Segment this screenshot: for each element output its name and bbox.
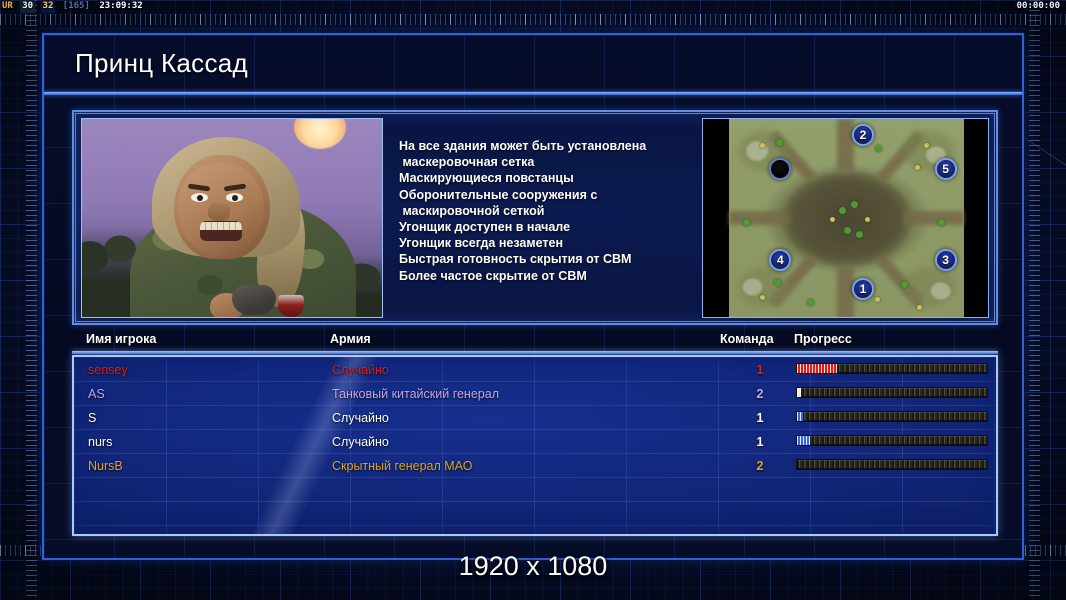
table-row[interactable]: ASТанковый китайский генерал2 bbox=[74, 384, 996, 408]
portrait-nose bbox=[208, 203, 230, 221]
portrait-pupil-right bbox=[232, 195, 238, 201]
progress-bar-fill bbox=[797, 388, 801, 397]
description-line: Более частое скрытие от СВМ bbox=[399, 268, 699, 284]
cell-player-name: AS bbox=[88, 387, 105, 401]
cell-army: Случайно bbox=[332, 363, 389, 377]
map-prop-tree bbox=[875, 145, 882, 152]
table-row[interactable]: nursСлучайно1 bbox=[74, 432, 996, 456]
progress-bar bbox=[796, 363, 988, 374]
map-prop-tree bbox=[901, 281, 908, 288]
map-road-e bbox=[903, 211, 964, 225]
description-line: Оборонительные сооружения с bbox=[399, 187, 699, 203]
header-progress: Прогресс bbox=[794, 332, 852, 346]
map-slot-3[interactable]: 3 bbox=[935, 249, 957, 271]
cell-team: 1 bbox=[749, 363, 771, 377]
progress-bar bbox=[796, 435, 988, 446]
cell-team: 2 bbox=[749, 459, 771, 473]
cell-player-name: nurs bbox=[88, 435, 112, 449]
map-prop-tree bbox=[776, 139, 783, 146]
status-value-2: 32 bbox=[41, 0, 56, 13]
status-clock: 23:09:32 bbox=[97, 0, 144, 13]
cell-army: Случайно bbox=[332, 435, 389, 449]
status-value-1: 30 bbox=[20, 0, 35, 13]
map-prop-tree bbox=[774, 279, 781, 286]
portrait-teeth bbox=[200, 222, 242, 230]
map-terrain-blob-4 bbox=[903, 267, 955, 307]
description-line: Быстрая готовность скрытия от СВМ bbox=[399, 251, 699, 267]
progress-bar bbox=[796, 459, 988, 470]
player-list-divider bbox=[72, 351, 998, 354]
progress-bar-fill bbox=[797, 412, 803, 421]
portrait-eye-left bbox=[191, 193, 208, 202]
map-slot-4[interactable]: 4 bbox=[769, 249, 791, 271]
general-info-panel: На все здания может быть установлена мас… bbox=[72, 110, 998, 325]
map-prop-tree bbox=[807, 299, 814, 306]
description-line: маскировочной сеткой bbox=[399, 203, 699, 219]
portrait-pupil-left bbox=[197, 195, 203, 201]
description-line: На все здания может быть установлена bbox=[399, 138, 699, 154]
map-slot-empty[interactable] bbox=[769, 158, 791, 180]
map-center-basin bbox=[783, 171, 911, 267]
portrait-cup bbox=[278, 295, 304, 317]
status-label: UR bbox=[0, 0, 15, 13]
map-slot-2[interactable]: 2 bbox=[852, 124, 874, 146]
description-line: маскеровочная сетка bbox=[399, 154, 699, 170]
screen-root: UR 30 32 [165] 23:09:32 00:00:00 Принц К… bbox=[0, 0, 1066, 600]
cell-team: 1 bbox=[749, 411, 771, 425]
progress-bar-fill bbox=[797, 436, 810, 445]
resolution-overlay: 1920 x 1080 bbox=[0, 551, 1066, 582]
portrait-eyebrow-left bbox=[188, 183, 210, 191]
header-army: Армия bbox=[330, 332, 371, 346]
map-road-w bbox=[729, 211, 790, 225]
page-title: Принц Кассад bbox=[75, 48, 248, 79]
cell-team: 1 bbox=[749, 435, 771, 449]
cell-team: 2 bbox=[749, 387, 771, 401]
map-preview[interactable]: 25431 bbox=[702, 118, 989, 318]
map-road-n bbox=[837, 119, 853, 171]
map-slot-5[interactable]: 5 bbox=[935, 158, 957, 180]
status-bracket: [165] bbox=[61, 0, 92, 13]
portrait-face bbox=[178, 163, 264, 255]
cell-progress bbox=[796, 363, 988, 374]
cell-player-name: sensey bbox=[88, 363, 128, 377]
portrait-teapot bbox=[232, 285, 276, 315]
main-window: Принц Кассад bbox=[42, 33, 1024, 560]
player-list-panel: senseyСлучайно1ASТанковый китайский гене… bbox=[72, 355, 998, 536]
cell-progress bbox=[796, 411, 988, 422]
table-row[interactable]: SСлучайно1 bbox=[74, 408, 996, 432]
map-terrain-blob-3 bbox=[738, 267, 790, 307]
title-divider bbox=[44, 92, 1022, 95]
portrait-mouth bbox=[200, 221, 242, 241]
cell-player-name: S bbox=[88, 411, 96, 425]
header-team: Команда bbox=[720, 332, 774, 346]
map-prop-gold bbox=[915, 165, 920, 170]
table-row[interactable]: NursBСкрытный генерал МАО2 bbox=[74, 456, 996, 480]
portrait-eyebrow-right bbox=[224, 183, 246, 191]
map-road-s bbox=[837, 267, 853, 318]
map-prop-gold bbox=[875, 297, 880, 302]
map-terrain bbox=[729, 119, 964, 318]
progress-bar-fill bbox=[797, 364, 837, 373]
description-line: Угонщик доступен в начале bbox=[399, 219, 699, 235]
general-description: На все здания может быть установлена мас… bbox=[399, 138, 699, 284]
progress-bar bbox=[796, 387, 988, 398]
status-bar: UR 30 32 [165] 23:09:32 00:00:00 bbox=[0, 0, 1066, 13]
description-line: Угонщик всегда незаметен bbox=[399, 235, 699, 251]
map-prop-gold bbox=[760, 295, 765, 300]
cell-army: Танковый китайский генерал bbox=[332, 387, 499, 401]
player-list-header: Имя игрока Армия Команда Прогресс bbox=[72, 332, 998, 352]
description-line: Маскирующиеся повстанцы bbox=[399, 170, 699, 186]
table-row[interactable]: senseyСлучайно1 bbox=[74, 360, 996, 384]
cell-progress bbox=[796, 435, 988, 446]
progress-bar bbox=[796, 411, 988, 422]
cell-progress bbox=[796, 387, 988, 398]
map-resource-cluster bbox=[856, 231, 863, 238]
title-bar: Принц Кассад bbox=[44, 35, 1022, 92]
header-name: Имя игрока bbox=[86, 332, 156, 346]
general-portrait bbox=[81, 118, 383, 318]
status-right-clock: 00:00:00 bbox=[1017, 0, 1060, 13]
cell-player-name: NursB bbox=[88, 459, 123, 473]
portrait-eye-right bbox=[226, 193, 243, 202]
cell-army: Случайно bbox=[332, 411, 389, 425]
map-prop-gold bbox=[760, 143, 765, 148]
map-prop-gold bbox=[917, 305, 922, 310]
cell-progress bbox=[796, 459, 988, 470]
cell-army: Скрытный генерал МАО bbox=[332, 459, 472, 473]
